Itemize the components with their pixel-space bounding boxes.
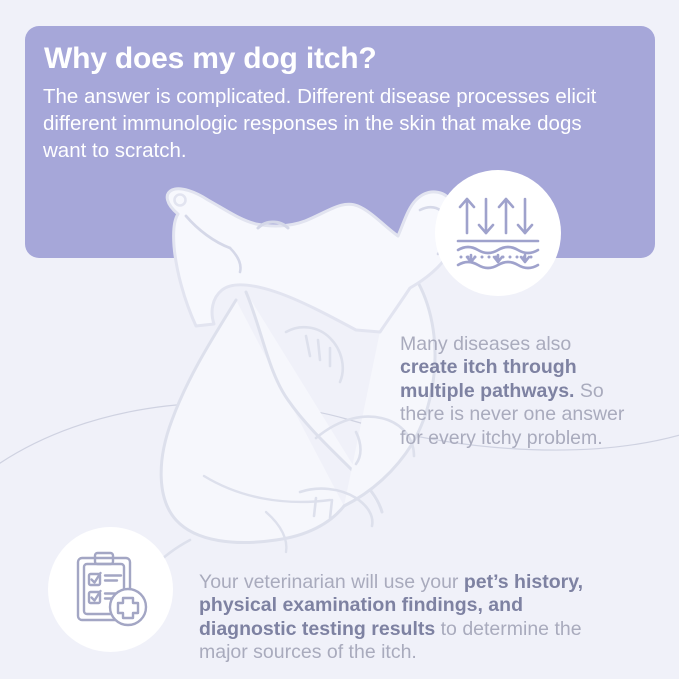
- pathways-text: Many diseases also create itch through m…: [400, 333, 632, 451]
- clipboard-checklist-medical-icon: [70, 549, 152, 631]
- pathways-text-bold: create itch through multiple pathways.: [400, 356, 577, 402]
- infographic-canvas: Why does my dog itch? The answer is comp…: [0, 0, 679, 679]
- dog-detail-lines: [136, 327, 414, 600]
- vet-text: Your veterinarian will use your pet’s hi…: [199, 571, 623, 665]
- dog-body-lines: [161, 254, 435, 543]
- pathways-text-part-1: Many diseases also: [400, 333, 571, 355]
- dog-contour-lines: [204, 476, 330, 552]
- page-title: Why does my dog itch?: [43, 40, 629, 78]
- skin-layers-arrows-icon: [455, 193, 541, 273]
- header-description: The answer is complicated. Different dis…: [43, 83, 629, 164]
- header-card: Why does my dog itch? The answer is comp…: [25, 26, 655, 258]
- skin-icon-badge: [435, 170, 561, 296]
- clipboard-icon-badge: [48, 527, 173, 652]
- vet-text-part-1: Your veterinarian will use your: [199, 571, 464, 593]
